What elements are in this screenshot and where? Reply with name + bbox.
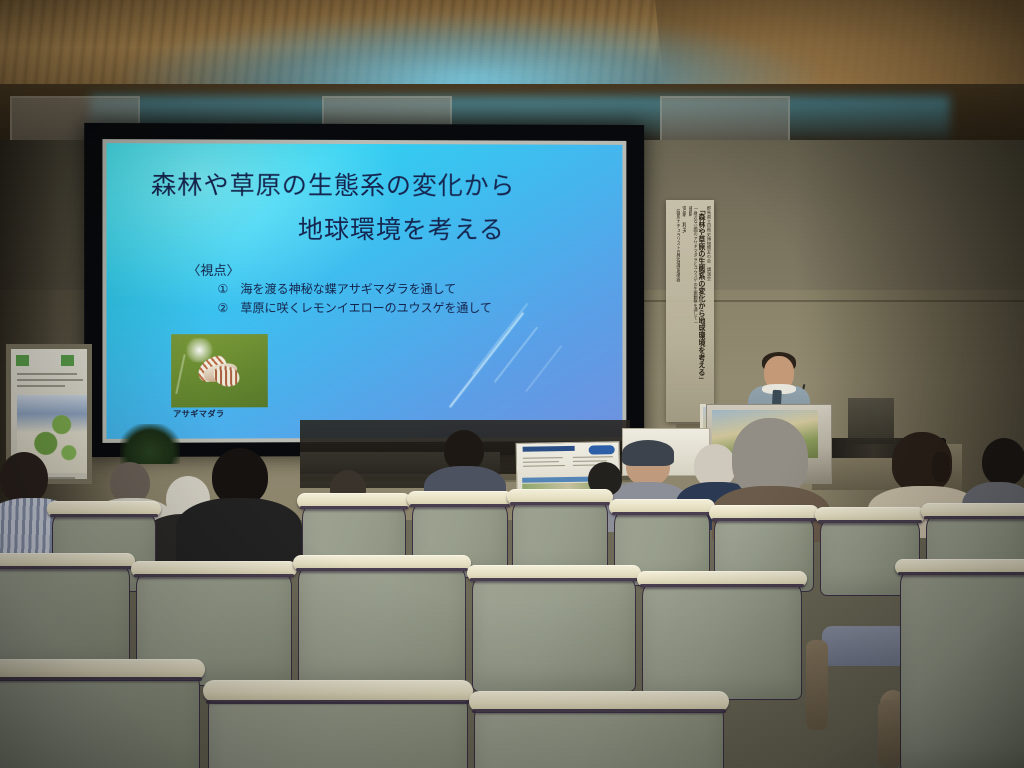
chair-front-1[interactable] bbox=[0, 668, 200, 768]
presentation-slide: 森林や草原の生態系の変化から 地球環境を考える 〈視点〉 ① 海を渡る神秘な蝶ア… bbox=[106, 143, 622, 439]
chair-front-2[interactable] bbox=[208, 690, 468, 768]
chair-row2-5[interactable] bbox=[642, 578, 802, 700]
butterfly-photo-caption: アサギマダラ bbox=[173, 408, 224, 419]
person-head bbox=[0, 452, 48, 504]
lecture-hall-scene: 森林や草原の生態系の変化から 地球環境を考える 〈視点〉 ① 海を渡る神秘な蝶ア… bbox=[0, 0, 1024, 768]
banner-speaker-name: 宮前 和夫 bbox=[681, 206, 686, 416]
person-shoulders bbox=[176, 498, 302, 564]
poster-text-line-3 bbox=[17, 385, 65, 387]
chair-piping bbox=[300, 506, 408, 509]
chair-piping bbox=[296, 568, 468, 571]
poster-chip-1 bbox=[16, 355, 29, 366]
chair-row2-3[interactable] bbox=[298, 562, 466, 686]
notice-line-4 bbox=[573, 456, 613, 458]
chair-piping bbox=[0, 566, 132, 569]
chair-piping bbox=[472, 709, 726, 713]
chair-piping bbox=[206, 700, 470, 704]
chair-piping bbox=[470, 578, 638, 581]
chair-piping bbox=[712, 518, 816, 521]
chair-piping bbox=[410, 504, 510, 507]
person-head bbox=[982, 438, 1024, 486]
chair-piping bbox=[818, 520, 922, 523]
poster-text-line-1 bbox=[17, 373, 77, 375]
butterfly-photo bbox=[171, 334, 268, 407]
banner-title-text: 「森林や草原の生態系の変化から地球環境を考える」 bbox=[699, 206, 706, 416]
chair-row2-6[interactable] bbox=[900, 566, 1024, 768]
chair-back bbox=[472, 572, 636, 692]
slide-bullet-2: ② 草原に咲くレモンイエローのユウスゲを通して bbox=[218, 299, 492, 316]
notice-badge bbox=[589, 445, 615, 454]
notice-line-2 bbox=[523, 461, 559, 463]
banner-host-text: 群馬県立自然史博物館友の会 講演会 bbox=[707, 206, 711, 416]
chair-piping bbox=[640, 584, 804, 587]
notice-title-bar bbox=[523, 446, 575, 452]
chair-front-3[interactable] bbox=[474, 700, 724, 768]
notice-line-1 bbox=[523, 457, 563, 459]
chair-back bbox=[0, 560, 130, 672]
potted-plant bbox=[120, 424, 180, 464]
chair-row2-4[interactable] bbox=[472, 572, 636, 692]
notice-line-3 bbox=[523, 465, 565, 467]
screen-mat: 森林や草原の生態系の変化から 地球環境を考える 〈視点〉 ① 海を渡る神秘な蝶ア… bbox=[102, 139, 626, 443]
chair-piping bbox=[924, 516, 1024, 519]
chair-back bbox=[642, 578, 802, 700]
chair-piping bbox=[134, 574, 294, 577]
poster-chip-2 bbox=[61, 355, 74, 366]
chair-back bbox=[298, 562, 466, 686]
chair-armrest-right-outer bbox=[806, 640, 828, 730]
chair-piping bbox=[50, 514, 158, 517]
chair-piping bbox=[0, 677, 202, 681]
chair-top-trim bbox=[203, 680, 473, 702]
ponytail bbox=[932, 452, 950, 482]
chair-back bbox=[900, 566, 1024, 768]
chair-armrest-right-inner bbox=[878, 700, 900, 768]
chair-piping bbox=[612, 512, 712, 515]
banner-speaker-org: （群馬ナチュラリスト自然保護協議会） bbox=[675, 206, 679, 416]
baseball-cap bbox=[622, 440, 674, 466]
slide-viewpoint-label: 〈視点〉 bbox=[187, 260, 239, 279]
lens-flare-streak-4 bbox=[526, 346, 562, 392]
projection-screen: 森林や草原の生態系の変化から 地球環境を考える 〈視点〉 ① 海を渡る神秘な蝶ア… bbox=[84, 123, 644, 457]
loudspeaker bbox=[848, 398, 894, 444]
chair-seat-cushion-right[interactable] bbox=[822, 626, 908, 666]
event-banner: 群馬県立自然史博物館友の会 講演会 「森林や草原の生態系の変化から地球環境を考え… bbox=[666, 200, 714, 422]
banner-subtitle-text: ―身近な公園のアサギマダラとユウスゲの生態観察を通して― bbox=[693, 206, 697, 416]
slide-title-line1: 森林や草原の生態系の変化から bbox=[151, 165, 515, 202]
banner-speaker-label: 講師 bbox=[687, 206, 692, 416]
chair-piping bbox=[510, 502, 610, 505]
poster-text-line-2 bbox=[17, 379, 83, 381]
slide-title-line2: 地球環境を考える bbox=[298, 210, 505, 246]
chair-back bbox=[0, 668, 200, 768]
chair-row2-1[interactable] bbox=[0, 560, 130, 672]
chair-piping bbox=[898, 572, 1024, 575]
slide-bullet-1: ① 海を渡る神秘な蝶アサギマダラを通して bbox=[218, 280, 457, 297]
